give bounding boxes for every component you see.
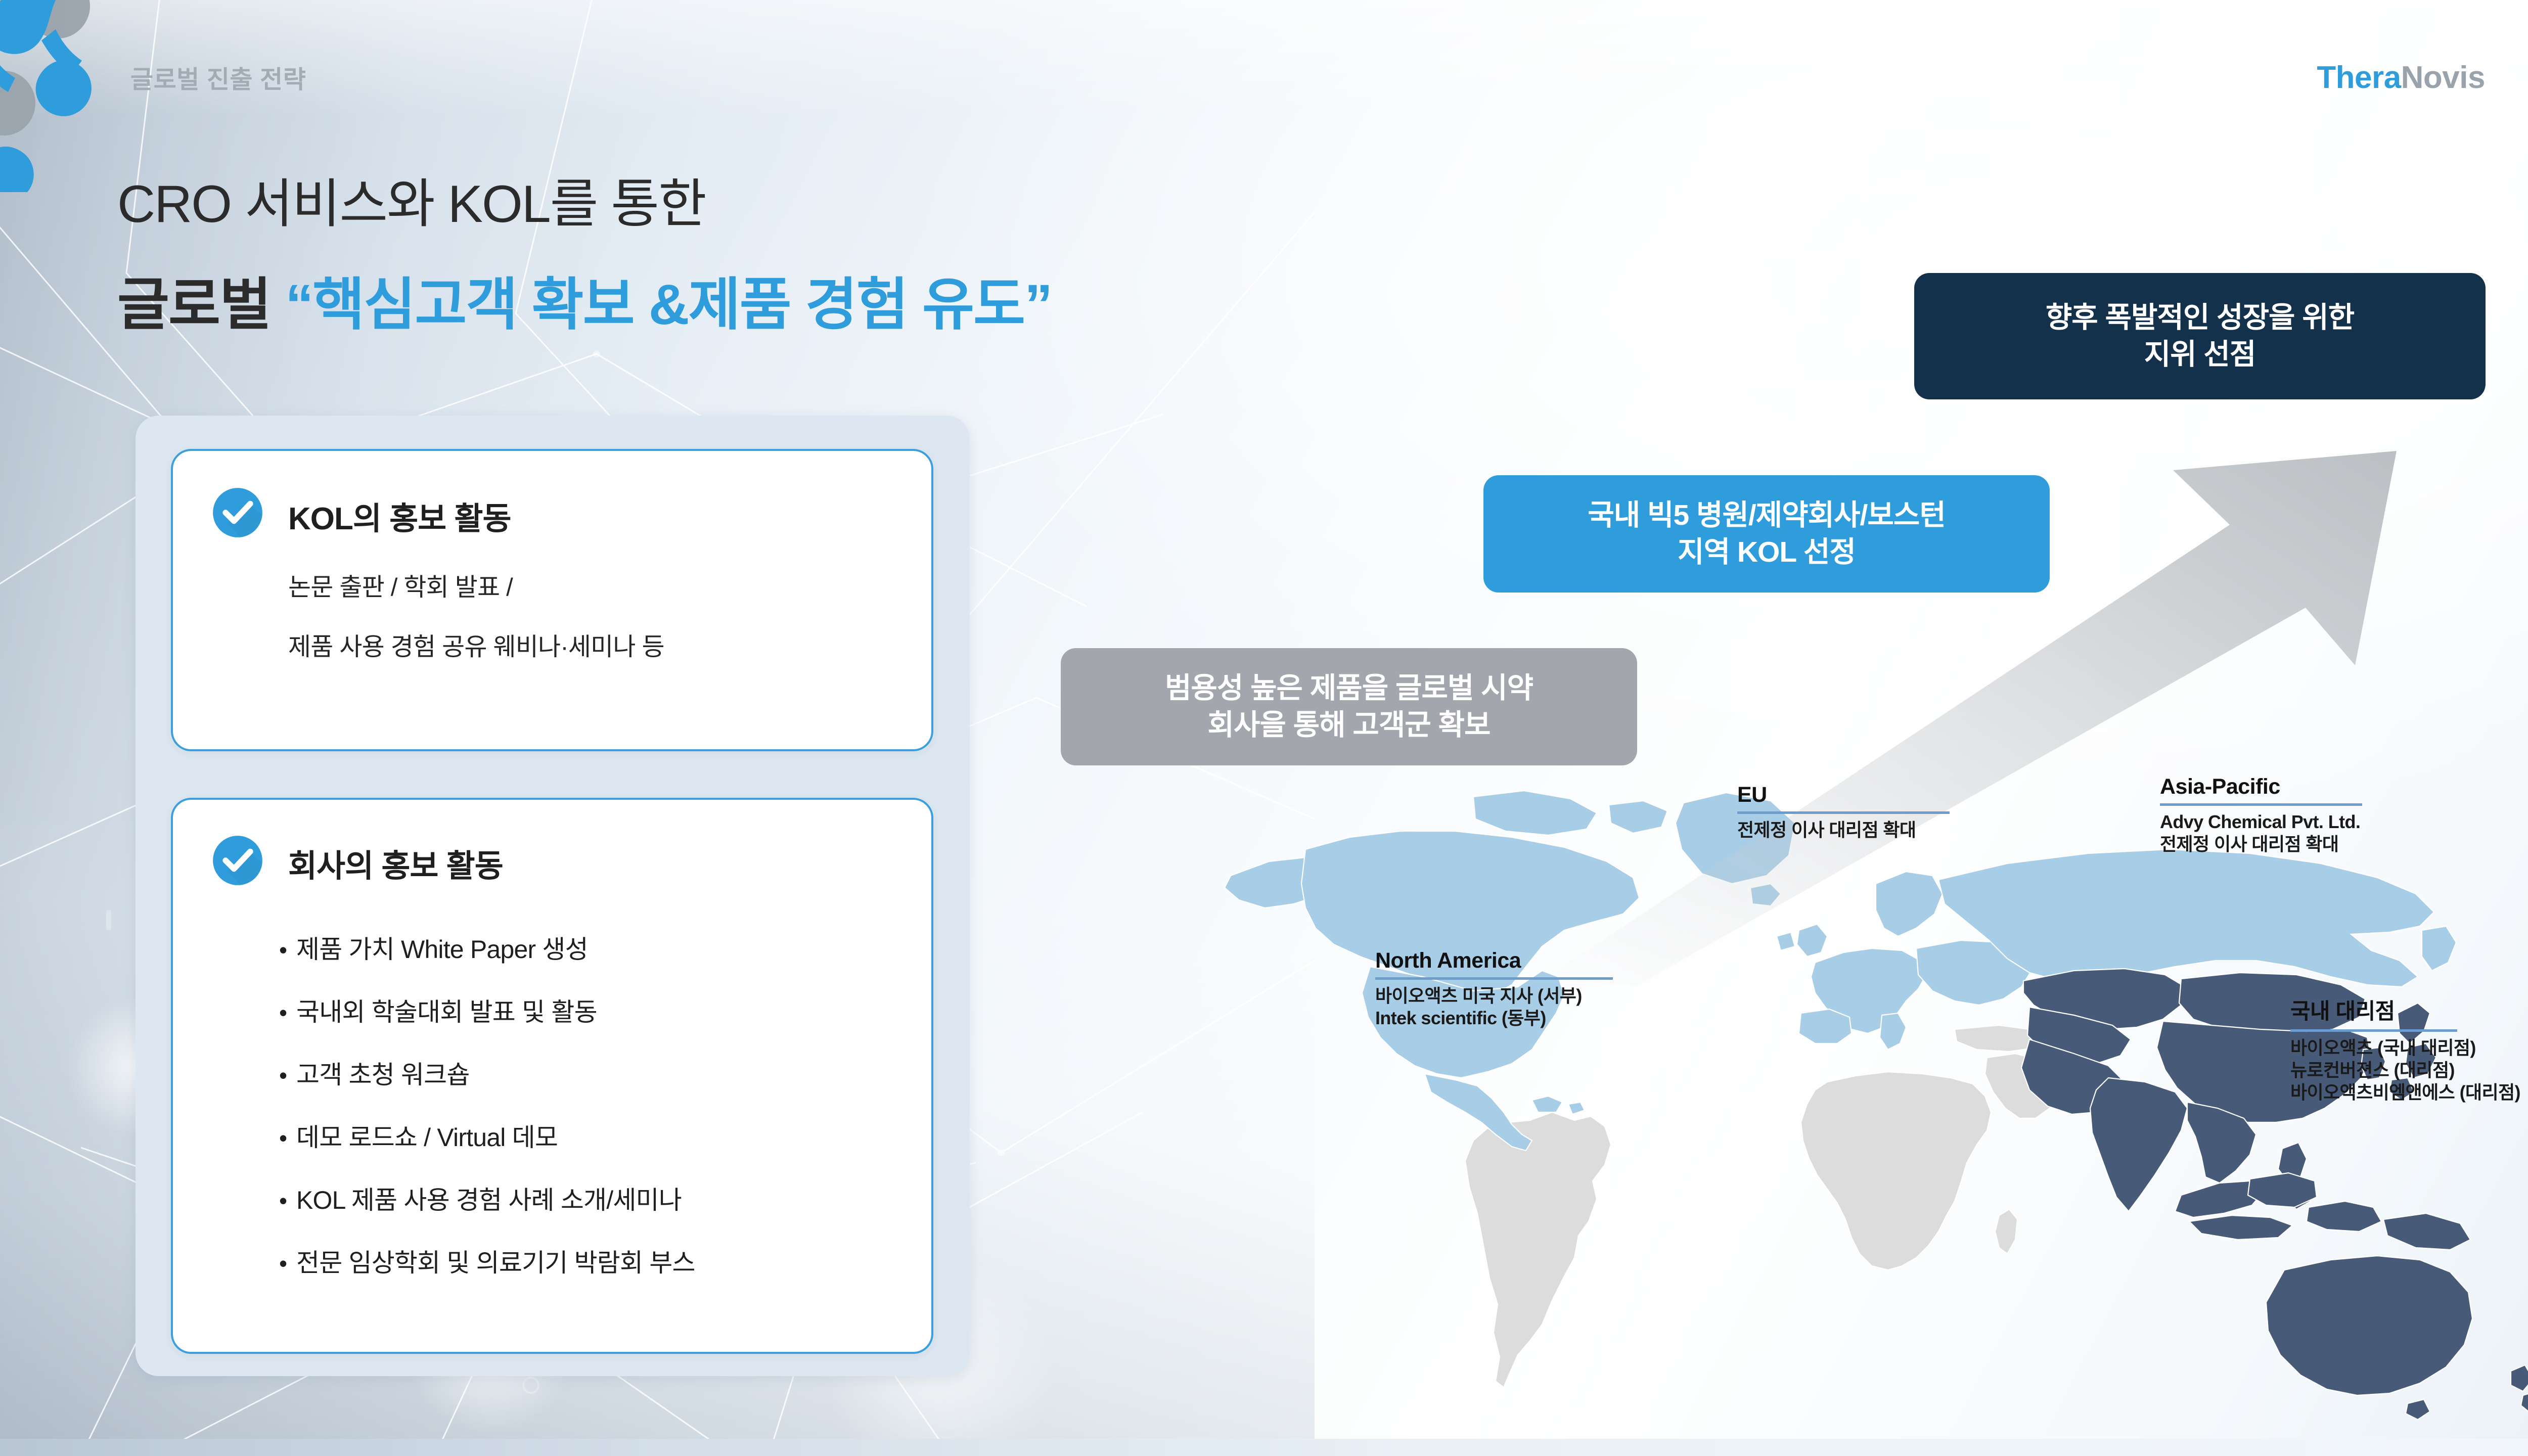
map-label-domestic-distributor-title: 국내 대리점 bbox=[2290, 994, 2520, 1029]
map-label-eu: EU 전제정 이사 대리점 확대 bbox=[1737, 783, 1950, 841]
bullet-dot-icon: • bbox=[279, 1126, 296, 1150]
list-item: • KOL 제품 사용 경험 사례 소개/세미나 bbox=[279, 1180, 682, 1216]
bullet-dot-icon: • bbox=[279, 1064, 296, 1087]
map-label-north-america-sub-1: 바이오액츠 미국 지사 (서부) bbox=[1375, 985, 1613, 1007]
list-item-label: 고객 초청 워크숍 bbox=[296, 1055, 470, 1091]
map-label-domestic-distributor-sub-2: 뉴로컨버젼스 (대리점) bbox=[2290, 1059, 2520, 1081]
callout-domestic-kol-line-1: 국내 빅5 병원/제약회사/보스턴 bbox=[1588, 497, 1945, 534]
brand-logo-primary: Thera bbox=[2317, 60, 2401, 95]
map-label-north-america-title: North America bbox=[1375, 948, 1613, 977]
card-kol-promotion bbox=[171, 449, 933, 751]
callout-domestic-kol-line-2: 지역 KOL 선정 bbox=[1678, 534, 1856, 571]
map-label-rule bbox=[2160, 803, 2362, 806]
map-label-asia-pacific-sub-1: Advy Chemical Pvt. Ltd. bbox=[2160, 811, 2362, 833]
bullet-dot-icon: • bbox=[279, 938, 296, 962]
page-title-line-1: CRO 서비스와 KOL를 통한 bbox=[117, 161, 706, 237]
list-item: • 데모 로드쇼 / Virtual 데모 bbox=[279, 1117, 558, 1154]
map-label-domestic-distributor-sub-3: 바이오액츠비엠앤에스 (대리점) bbox=[2290, 1081, 2520, 1104]
slide-root: 글로벌 진출 전략 TheraNovis CRO 서비스와 KOL를 통한 글로… bbox=[0, 0, 2528, 1456]
check-circle-icon bbox=[211, 834, 264, 887]
callout-global-reagent: 범용성 높은 제품을 글로벌 시약 회사을 통해 고객군 확보 bbox=[1061, 648, 1637, 765]
list-item-label: 국내외 학술대회 발표 및 활동 bbox=[296, 992, 597, 1028]
callout-global-reagent-line-2: 회사을 통해 고객군 확보 bbox=[1208, 707, 1491, 744]
list-item-label: KOL 제품 사용 경험 사례 소개/세미나 bbox=[296, 1180, 682, 1216]
map-label-north-america: North America 바이오액츠 미국 지사 (서부) Intek sci… bbox=[1375, 948, 1613, 1029]
eyebrow-label: 글로벌 진출 전략 bbox=[130, 60, 306, 96]
top-haze-decoration bbox=[0, 0, 2528, 116]
map-label-asia-pacific: Asia-Pacific Advy Chemical Pvt. Ltd. 전제정… bbox=[2160, 775, 2362, 855]
page-title-prefix: 글로벌 bbox=[117, 273, 285, 336]
map-label-rule bbox=[1375, 977, 1613, 980]
bullet-dot-icon: • bbox=[279, 1189, 296, 1212]
bullet-dot-icon: • bbox=[279, 1252, 296, 1275]
card-kol-line-2: 제품 사용 경험 공유 웨비나·세미나 등 bbox=[288, 627, 664, 663]
callout-domestic-kol: 국내 빅5 병원/제약회사/보스턴 지역 KOL 선정 bbox=[1483, 475, 2050, 593]
brand-logo-secondary: Novis bbox=[2401, 60, 2485, 95]
map-label-rule bbox=[1737, 811, 1950, 814]
list-item: • 전문 임상학회 및 의료기기 박람회 부스 bbox=[279, 1243, 695, 1279]
page-title-highlight: “핵심고객 확보 &제품 경험 유도” bbox=[285, 273, 1052, 336]
map-label-eu-sub-1: 전제정 이사 대리점 확대 bbox=[1737, 819, 1950, 841]
map-label-north-america-sub-2: Intek scientific (동부) bbox=[1375, 1007, 1613, 1029]
list-item-label: 데모 로드쇼 / Virtual 데모 bbox=[296, 1117, 558, 1154]
map-label-domestic-distributor: 국내 대리점 바이오액츠 (국내 대리점) 뉴로컨버젼스 (대리점) 바이오액츠… bbox=[2290, 994, 2520, 1104]
callout-global-reagent-line-1: 범용성 높은 제품을 글로벌 시약 bbox=[1165, 670, 1533, 707]
check-circle-icon bbox=[211, 486, 264, 539]
page-title-line-2: 글로벌 “핵심고객 확보 &제품 경험 유도” bbox=[117, 259, 1052, 341]
map-label-eu-title: EU bbox=[1737, 783, 1950, 811]
card-company-heading: 회사의 홍보 활동 bbox=[288, 840, 503, 886]
callout-future-growth-line-1: 향후 폭발적인 성장을 위한 bbox=[2046, 299, 2354, 336]
map-label-rule bbox=[2290, 1029, 2457, 1032]
bullet-dot-icon: • bbox=[279, 1001, 296, 1024]
list-item-label: 제품 가치 White Paper 생성 bbox=[296, 929, 588, 966]
bottom-strip-decoration bbox=[0, 1439, 2528, 1456]
map-label-asia-pacific-sub-2: 전제정 이사 대리점 확대 bbox=[2160, 833, 2362, 855]
list-item-label: 전문 임상학회 및 의료기기 박람회 부스 bbox=[296, 1243, 695, 1279]
map-label-asia-pacific-title: Asia-Pacific bbox=[2160, 775, 2362, 803]
card-kol-heading: KOL의 홍보 활동 bbox=[288, 493, 511, 538]
list-item: • 고객 초청 워크숍 bbox=[279, 1055, 470, 1091]
list-item: • 국내외 학술대회 발표 및 활동 bbox=[279, 992, 597, 1028]
card-kol-line-1: 논문 출판 / 학회 발표 / bbox=[288, 567, 513, 603]
brand-logo: TheraNovis bbox=[2317, 60, 2485, 96]
callout-future-growth: 향후 폭발적인 성장을 위한 지위 선점 bbox=[1914, 273, 2486, 399]
map-label-domestic-distributor-sub-1: 바이오액츠 (국내 대리점) bbox=[2290, 1037, 2520, 1059]
callout-future-growth-line-2: 지위 선점 bbox=[2144, 336, 2256, 373]
list-item: • 제품 가치 White Paper 생성 bbox=[279, 929, 588, 966]
